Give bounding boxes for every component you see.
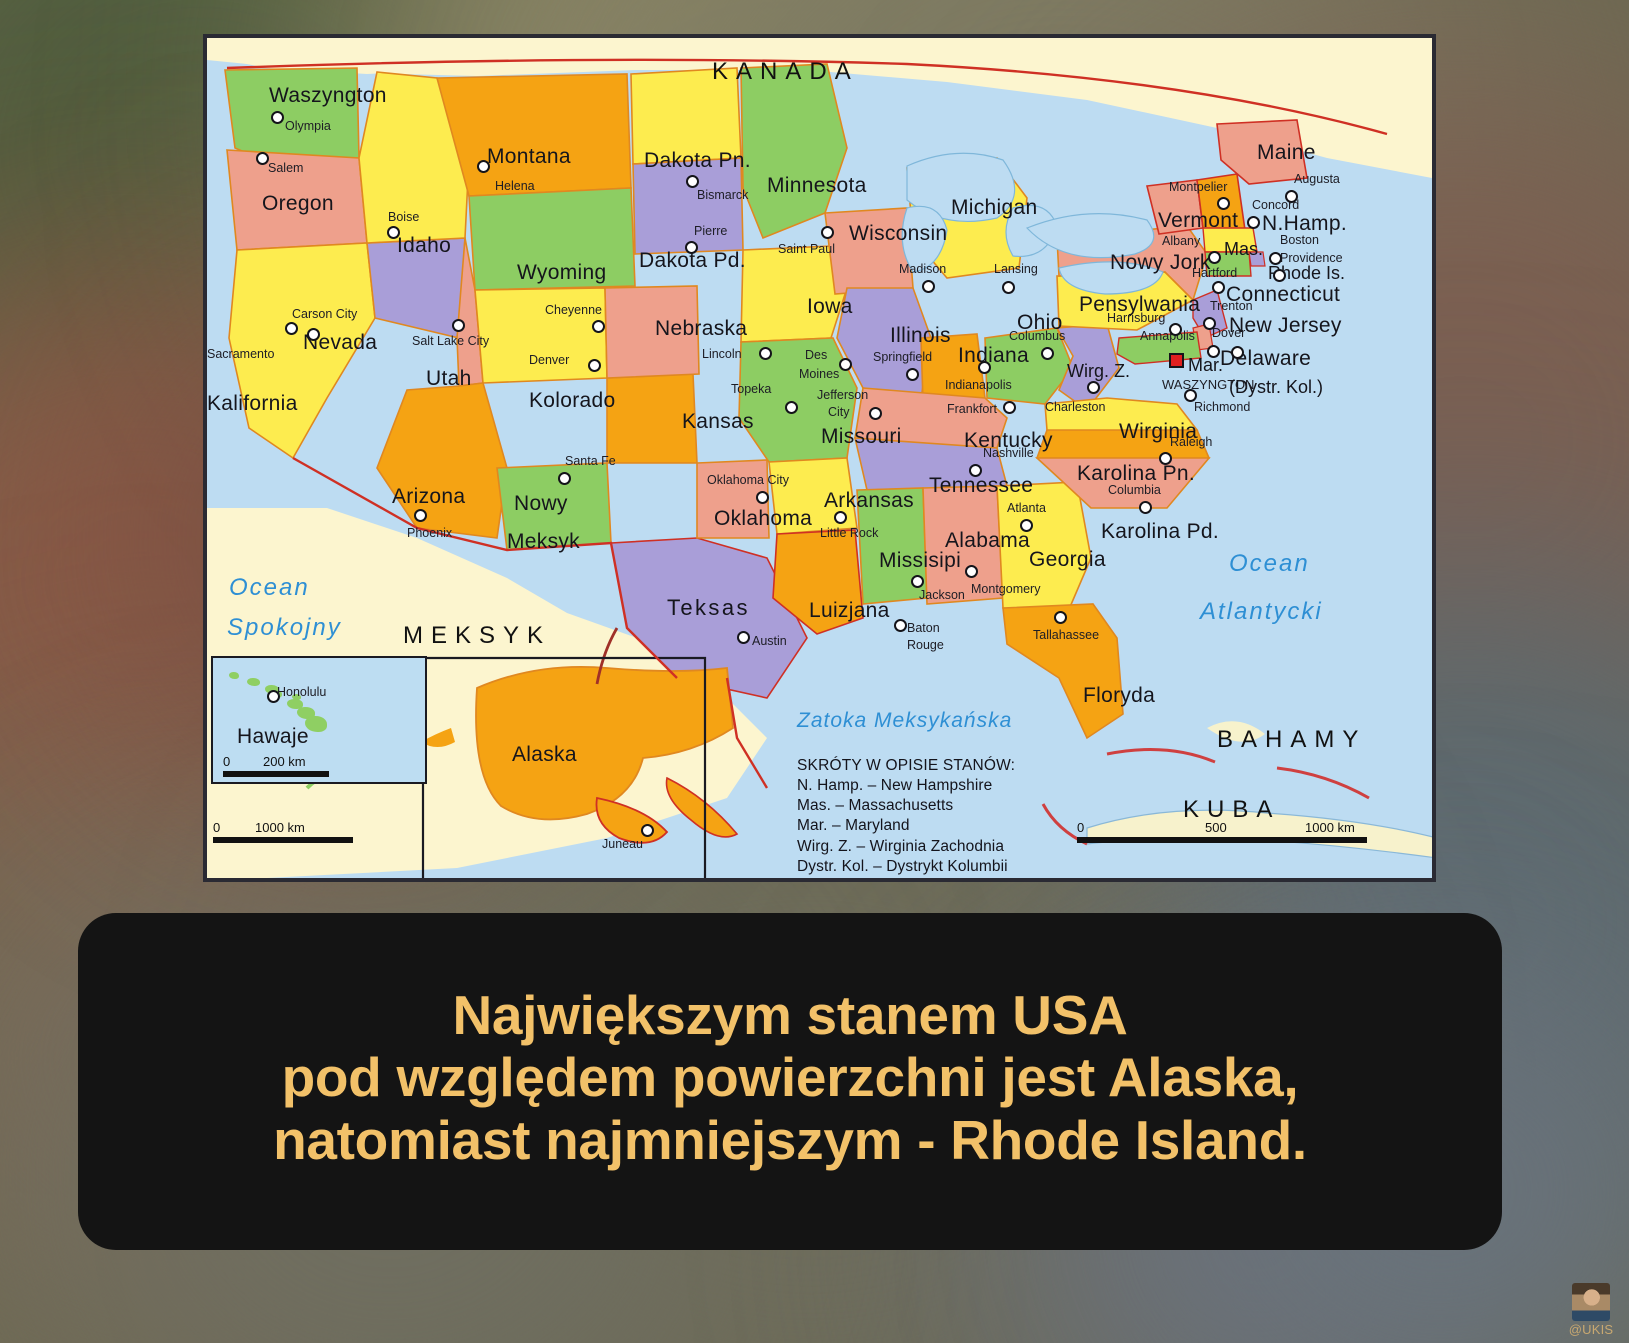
- country-label-kanada: KANADA: [712, 60, 859, 84]
- city-label-columbus: Columbus: [1009, 330, 1065, 343]
- city-dot-sacramento: [285, 322, 298, 335]
- city-label-indianapolis: Indianapolis: [945, 379, 1012, 392]
- city-dot-jefferson: [869, 407, 882, 420]
- city-dot-montgomery: [965, 565, 978, 578]
- state-label-teksas: Teksas: [667, 597, 750, 619]
- city-label-charleston: Charleston: [1045, 401, 1105, 414]
- city-label-annapolis: Annapolis: [1140, 330, 1195, 343]
- caption-line-3: natomiast najmniejszym - Rhode Island.: [273, 1109, 1307, 1171]
- state-label-mas: Mas.: [1224, 240, 1263, 258]
- state-label-montana: Montana: [487, 146, 571, 167]
- city-label-topeka: Topeka: [731, 383, 771, 396]
- city-label-cheyenne: Cheyenne: [545, 304, 602, 317]
- city-label-juneau: Juneau: [602, 838, 643, 851]
- caption-line-2: pod względem powierzchni jest Alaska,: [282, 1046, 1299, 1108]
- ocean-label-atlantycki: Atlantycki: [1200, 600, 1323, 624]
- city-dot-springfield: [906, 368, 919, 381]
- city-dot-denver: [588, 359, 601, 372]
- city-dot-topeka: [785, 401, 798, 414]
- state-label-indiana: Indiana: [958, 345, 1029, 366]
- city-label-des: Des: [805, 349, 827, 362]
- city-dot-indianapolis: [978, 361, 991, 374]
- city-label-oklahoma-city: Oklahoma City: [707, 474, 789, 487]
- city-dot-nashville: [969, 464, 982, 477]
- state-label-georgia: Georgia: [1029, 549, 1106, 570]
- state-label-meksyk: Meksyk: [507, 531, 580, 552]
- city-label-waszyngton-dc: WASZYNGTON: [1162, 378, 1254, 391]
- city-label-atlanta: Atlanta: [1007, 502, 1046, 515]
- city-dot-baton: [894, 619, 907, 632]
- city-label-salem: Salem: [268, 162, 303, 175]
- state-label-waszyngton: Waszyngton: [269, 85, 387, 106]
- city-label-helena: Helena: [495, 180, 535, 193]
- city-label-raleigh: Raleigh: [1170, 436, 1212, 449]
- state-label-hawaje: Hawaje: [237, 726, 309, 747]
- city-label-montpelier: Montpelier: [1169, 181, 1227, 194]
- state-label-alabama: Alabama: [945, 530, 1030, 551]
- city-dot-cheyenne: [592, 320, 605, 333]
- city-label-madison: Madison: [899, 263, 946, 276]
- city-label-moines: Moines: [799, 368, 839, 381]
- city-dot-helena: [477, 160, 490, 173]
- state-label-arkansas: Arkansas: [824, 490, 914, 511]
- state-label-wirg-z: Wirg. Z.: [1067, 362, 1130, 380]
- city-dot-charleston: [1087, 381, 1100, 394]
- city-dot-dover: [1207, 345, 1220, 358]
- city-dot-annapolis: [1231, 346, 1244, 359]
- city-label-olympia: Olympia: [285, 120, 331, 133]
- state-label-illinois: Illinois: [890, 325, 951, 346]
- state-label-minnesota: Minnesota: [767, 175, 867, 196]
- city-label-salt-lake-city: Salt Lake City: [412, 335, 489, 348]
- city-dot-montpelier: [1217, 197, 1230, 210]
- state-label-karolina-pn: Karolina Pn.: [1077, 463, 1195, 484]
- state-label-wisconsin: Wisconsin: [849, 223, 947, 244]
- scale-bar-line: [1077, 837, 1367, 843]
- city-dot-augusta: [1285, 190, 1298, 203]
- state-label-mar: Mar.: [1188, 356, 1223, 374]
- state-label-new-jersey: New Jersey: [1229, 315, 1342, 336]
- legend-row: Dystr. Kol. – Dystrykt Kolumbii: [797, 857, 1015, 877]
- city-dot-richmond: [1184, 389, 1197, 402]
- scale-bar-line: [223, 771, 329, 777]
- city-label-montgomery: Montgomery: [971, 583, 1040, 596]
- state-label-arizona: Arizona: [392, 486, 465, 507]
- city-dot-little-rock: [834, 511, 847, 524]
- city-label-austin: Austin: [752, 635, 787, 648]
- city-label-boston: Boston: [1280, 234, 1319, 247]
- state-label-idaho: Idaho: [397, 235, 451, 256]
- city-dot-concord: [1247, 216, 1260, 229]
- city-label-sacramento: Sacramento: [207, 348, 274, 361]
- legend-heading: SKRÓTY W OPISIE STANÓW:: [797, 756, 1015, 776]
- state-label-alaska: Alaska: [512, 744, 577, 765]
- city-dot-saint-paul: [821, 226, 834, 239]
- country-label-kuba: KUBA: [1183, 798, 1280, 822]
- city-dot-lincoln: [759, 347, 772, 360]
- city-dot-jackson: [911, 575, 924, 588]
- city-label-nashville: Nashville: [983, 447, 1034, 460]
- city-label-city: City: [828, 406, 850, 419]
- scale-value: 1000 km: [255, 820, 305, 835]
- caption-line-1: Największym stanem USA: [452, 984, 1127, 1046]
- state-label-dakota-pn: Dakota Pn.: [644, 150, 751, 171]
- legend-row: Wirg. Z. – Wirginia Zachodnia: [797, 837, 1015, 857]
- state-label-nowy: Nowy: [514, 493, 568, 514]
- scale-zero: 0: [1077, 820, 1084, 835]
- usa-map-image: KANADAMEKSYKKUBABAHAMYOceanSpokojnyOcean…: [203, 34, 1436, 882]
- hawaii-inset: Honolulu Hawaje 0 200 km: [211, 656, 427, 784]
- state-label-missouri: Missouri: [821, 426, 902, 447]
- state-label-missisipi: Missisipi: [879, 550, 961, 571]
- legend-row: Mas. – Massachusetts: [797, 796, 1015, 816]
- city-label-tallahassee: Tallahassee: [1033, 629, 1099, 642]
- city-label-santa-fe: Santa Fe: [565, 455, 616, 468]
- city-label-lansing: Lansing: [994, 263, 1038, 276]
- city-dot-lansing: [1002, 281, 1015, 294]
- city-label-hartford: Hartford: [1192, 267, 1237, 280]
- city-label-richmond: Richmond: [1194, 401, 1250, 414]
- city-label-frankfort: Frankfort: [947, 403, 997, 416]
- scale-value: 200 km: [263, 754, 306, 769]
- state-label-kalifornia: Kalifornia: [207, 393, 298, 414]
- abbreviation-legend: SKRÓTY W OPISIE STANÓW: N. Hamp. – New H…: [797, 756, 1015, 877]
- city-dot-boise: [387, 226, 400, 239]
- scale-zero: 0: [213, 820, 220, 835]
- watermark-handle: @UKIS: [1563, 1322, 1619, 1337]
- city-dot-phoenix: [414, 509, 427, 522]
- city-label-providence: Providence: [1280, 252, 1343, 265]
- city-label-rouge: Rouge: [907, 639, 944, 652]
- city-label-lincoln: Lincoln: [702, 348, 742, 361]
- city-label-albany: Albany: [1162, 235, 1200, 248]
- state-label-oklahoma: Oklahoma: [714, 508, 812, 529]
- city-dot-des: [839, 358, 852, 371]
- city-label-bismarck: Bismarck: [697, 189, 748, 202]
- city-label-pierre: Pierre: [694, 225, 727, 238]
- city-dot-providence: [1273, 269, 1286, 282]
- city-label-harrisburg: Harrisburg: [1107, 312, 1165, 325]
- city-dot-albany: [1208, 251, 1221, 264]
- state-label-wyoming: Wyoming: [517, 262, 606, 283]
- city-dot-salem: [256, 152, 269, 165]
- city-label-augusta: Augusta: [1294, 173, 1340, 186]
- city-dot-boston: [1269, 252, 1282, 265]
- caption-banner: Największym stanem USA pod względem powi…: [78, 913, 1502, 1250]
- state-label-n-hamp: N.Hamp.: [1262, 213, 1347, 234]
- state-label-utah: Utah: [426, 368, 472, 389]
- scale-zero: 0: [223, 754, 230, 769]
- scale-value: 1000 km: [1305, 820, 1355, 835]
- city-dot-atlanta: [1020, 519, 1033, 532]
- city-label-jackson: Jackson: [919, 589, 965, 602]
- scale-mid: 500: [1205, 820, 1227, 835]
- city-dot-harrisburg: [1169, 323, 1182, 336]
- city-dot-columbus: [1041, 347, 1054, 360]
- state-label-kolorado: Kolorado: [529, 390, 615, 411]
- city-label-trenton: Trenton: [1210, 300, 1253, 313]
- city-label-dover: Dover: [1212, 327, 1245, 340]
- city-dot-tallahassee: [1054, 611, 1067, 624]
- city-dot-carson-city: [307, 328, 320, 341]
- city-dot-olympia: [271, 111, 284, 124]
- ocean-label-ocean: Ocean: [229, 576, 310, 600]
- city-label-baton: Baton: [907, 622, 940, 635]
- city-label-little-rock: Little Rock: [820, 527, 878, 540]
- avatar: [1572, 1283, 1610, 1321]
- country-label-meksyk: MEKSYK: [403, 624, 551, 648]
- ocean-label-ocean: Ocean: [1229, 552, 1310, 576]
- city-dot-salt-lake-city: [452, 319, 465, 332]
- ocean-label-spokojny: Spokojny: [227, 616, 342, 640]
- legend-row: N. Hamp. – New Hampshire: [797, 776, 1015, 796]
- scale-bar-line: [213, 837, 353, 843]
- state-label-nebraska: Nebraska: [655, 318, 747, 339]
- city-dot-juneau: [641, 824, 654, 837]
- ocean-label-zatoka-meksyka-ska: Zatoka Meksykańska: [797, 710, 1012, 731]
- state-label-vermont: Vermont: [1158, 210, 1238, 231]
- city-label-honolulu: Honolulu: [277, 686, 326, 699]
- capital-marker-washington-dc: [1169, 353, 1184, 368]
- city-label-saint-paul: Saint Paul: [778, 243, 835, 256]
- city-dot-pierre: [685, 241, 698, 254]
- state-label-karolina-pd: Karolina Pd.: [1101, 521, 1219, 542]
- city-label-springfield: Springfield: [873, 351, 932, 364]
- city-dot-hartford: [1212, 281, 1225, 294]
- city-dot-frankfort: [1003, 401, 1016, 414]
- state-label-oregon: Oregon: [262, 193, 334, 214]
- city-dot-madison: [922, 280, 935, 293]
- city-dot-bismarck: [686, 175, 699, 188]
- legend-row: Mar. – Maryland: [797, 816, 1015, 836]
- state-label-iowa: Iowa: [807, 296, 853, 317]
- city-dot-santa-fe: [558, 472, 571, 485]
- city-dot-raleigh: [1159, 452, 1172, 465]
- city-label-jefferson: Jefferson: [817, 389, 868, 402]
- state-label-michigan: Michigan: [951, 197, 1037, 218]
- city-dot-oklahoma-city: [756, 491, 769, 504]
- city-dot-trenton: [1203, 317, 1216, 330]
- watermark: @UKIS: [1563, 1283, 1619, 1337]
- state-label-kansas: Kansas: [682, 411, 754, 432]
- city-label-columbia: Columbia: [1108, 484, 1161, 497]
- city-label-phoenix: Phoenix: [407, 527, 452, 540]
- state-label-maine: Maine: [1257, 142, 1316, 163]
- state-label-floryda: Floryda: [1083, 685, 1155, 706]
- city-label-boise: Boise: [388, 211, 419, 224]
- state-label-tennessee: Tennessee: [929, 475, 1033, 496]
- city-dot-austin: [737, 631, 750, 644]
- city-label-carson-city: Carson City: [292, 308, 357, 321]
- city-label-denver: Denver: [529, 354, 569, 367]
- state-label-luizjana: Luizjana: [809, 600, 890, 621]
- country-label-bahamy: BAHAMY: [1217, 728, 1366, 752]
- city-dot-columbia: [1139, 501, 1152, 514]
